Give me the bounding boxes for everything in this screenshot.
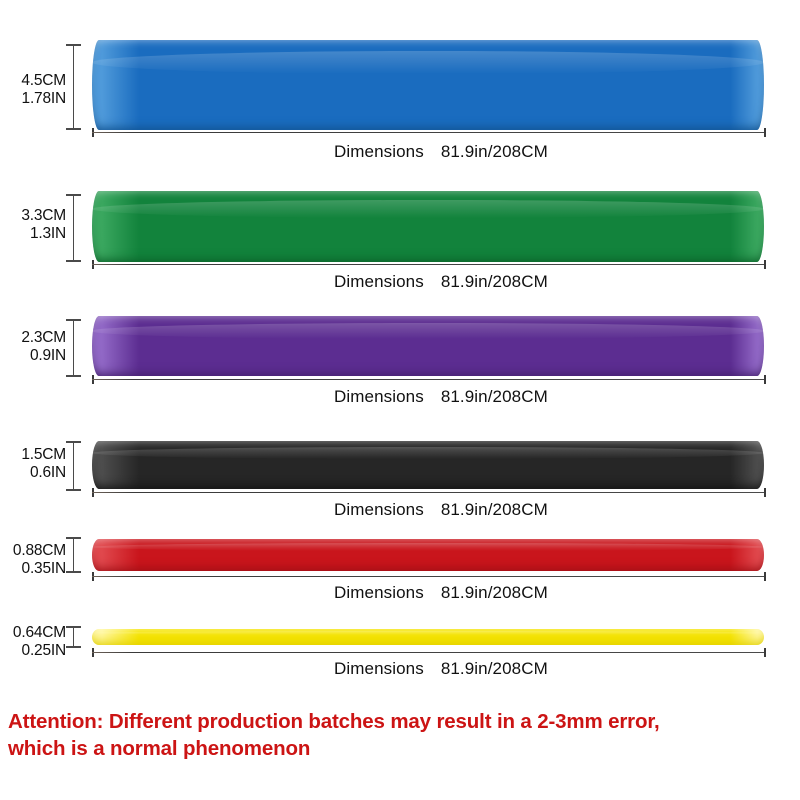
length-caption-label: Dimensions [334, 659, 424, 678]
length-caption-red: Dimensions81.9in/208CM [334, 583, 548, 603]
length-caption-value: 81.9in/208CM [441, 142, 548, 161]
band-highlight [92, 631, 764, 635]
marker-cap-bottom-icon [66, 489, 81, 491]
band-green [92, 191, 764, 262]
band-red [92, 539, 764, 571]
marker-cap-bottom-icon [66, 646, 81, 648]
attention-line-1: Attention: Different production batches … [8, 708, 792, 735]
length-caption-purple: Dimensions81.9in/208CM [334, 387, 548, 407]
height-label-yellow: 0.64CM 0.25IN [2, 624, 66, 659]
length-caption-label: Dimensions [334, 387, 424, 406]
length-tick-right-icon [764, 375, 766, 384]
marker-cap-bottom-icon [66, 260, 81, 262]
marker-stem-icon [73, 441, 74, 491]
height-cm-green: 3.3CM [8, 207, 66, 225]
height-dimension-marker-blue [66, 44, 81, 130]
band-highlight [92, 447, 764, 459]
height-label-green: 3.3CM 1.3IN [8, 207, 66, 242]
length-caption-yellow: Dimensions81.9in/208CM [334, 659, 548, 679]
marker-cap-bottom-icon [66, 571, 81, 573]
length-dimension-line-red [92, 572, 766, 581]
length-dimension-line-yellow [92, 648, 766, 657]
length-caption-value: 81.9in/208CM [441, 272, 548, 291]
band-highlight [92, 51, 764, 74]
length-bar-icon [92, 652, 766, 653]
length-dimension-line-purple [92, 375, 766, 384]
height-in-red: 0.35IN [2, 560, 66, 578]
length-tick-right-icon [764, 648, 766, 657]
length-dimension-line-green [92, 260, 766, 269]
length-caption-value: 81.9in/208CM [441, 500, 548, 519]
length-caption-green: Dimensions81.9in/208CM [334, 272, 548, 292]
length-caption-label: Dimensions [334, 142, 424, 161]
length-dimension-line-blue [92, 128, 766, 137]
marker-cap-bottom-icon [66, 128, 81, 130]
length-bar-icon [92, 132, 766, 133]
marker-stem-icon [73, 44, 74, 130]
height-dimension-marker-black [66, 441, 81, 491]
band-row-black: 1.5CM 0.6IN Dimensions81.9in/208CM [0, 420, 800, 525]
length-caption-label: Dimensions [334, 583, 424, 602]
height-label-purple: 2.3CM 0.9IN [8, 329, 66, 364]
band-row-blue: 4.5CM 1.78IN Dimensions81.9in/208CM [0, 0, 800, 175]
attention-note: Attention: Different production batches … [8, 708, 792, 762]
height-label-red: 0.88CM 0.35IN [2, 542, 66, 577]
height-cm-red: 0.88CM [2, 542, 66, 560]
band-row-yellow: 0.64CM 0.25IN Dimensions81.9in/208CM [0, 615, 800, 705]
resistance-band-size-chart: 4.5CM 1.78IN Dimensions81.9in/208CM 3.3C… [0, 0, 800, 800]
marker-cap-bottom-icon [66, 375, 81, 377]
band-row-green: 3.3CM 1.3IN Dimensions81.9in/208CM [0, 180, 800, 300]
height-cm-purple: 2.3CM [8, 329, 66, 347]
length-caption-value: 81.9in/208CM [441, 659, 548, 678]
height-cm-black: 1.5CM [8, 446, 66, 464]
band-row-red: 0.88CM 0.35IN Dimensions81.9in/208CM [0, 525, 800, 625]
length-caption-label: Dimensions [334, 272, 424, 291]
height-cm-blue: 4.5CM [8, 72, 66, 90]
height-dimension-marker-red [66, 537, 81, 573]
height-label-black: 1.5CM 0.6IN [8, 446, 66, 481]
height-in-purple: 0.9IN [8, 347, 66, 365]
height-dimension-marker-yellow [66, 626, 81, 648]
length-tick-right-icon [764, 572, 766, 581]
length-tick-right-icon [764, 488, 766, 497]
length-bar-icon [92, 576, 766, 577]
length-bar-icon [92, 264, 766, 265]
length-caption-value: 81.9in/208CM [441, 583, 548, 602]
length-caption-value: 81.9in/208CM [441, 387, 548, 406]
band-highlight [92, 543, 764, 551]
height-in-black: 0.6IN [8, 464, 66, 482]
band-highlight [92, 323, 764, 339]
length-caption-blue: Dimensions81.9in/208CM [334, 142, 548, 162]
length-tick-right-icon [764, 260, 766, 269]
height-in-yellow: 0.25IN [2, 642, 66, 660]
length-caption-black: Dimensions81.9in/208CM [334, 500, 548, 520]
length-bar-icon [92, 492, 766, 493]
attention-line-2: which is a normal phenomenon [8, 735, 792, 762]
height-dimension-marker-green [66, 194, 81, 262]
marker-stem-icon [73, 319, 74, 377]
band-blue [92, 40, 764, 130]
length-tick-right-icon [764, 128, 766, 137]
height-in-blue: 1.78IN [8, 90, 66, 108]
band-row-purple: 2.3CM 0.9IN Dimensions81.9in/208CM [0, 305, 800, 415]
height-dimension-marker-purple [66, 319, 81, 377]
height-label-blue: 4.5CM 1.78IN [8, 72, 66, 107]
band-purple [92, 316, 764, 376]
height-cm-yellow: 0.64CM [2, 624, 66, 642]
length-dimension-line-black [92, 488, 766, 497]
marker-stem-icon [73, 194, 74, 262]
band-black [92, 441, 764, 489]
band-highlight [92, 200, 764, 218]
marker-stem-icon [73, 626, 74, 648]
length-bar-icon [92, 379, 766, 380]
band-yellow [92, 629, 764, 645]
height-in-green: 1.3IN [8, 225, 66, 243]
length-caption-label: Dimensions [334, 500, 424, 519]
marker-stem-icon [73, 537, 74, 573]
